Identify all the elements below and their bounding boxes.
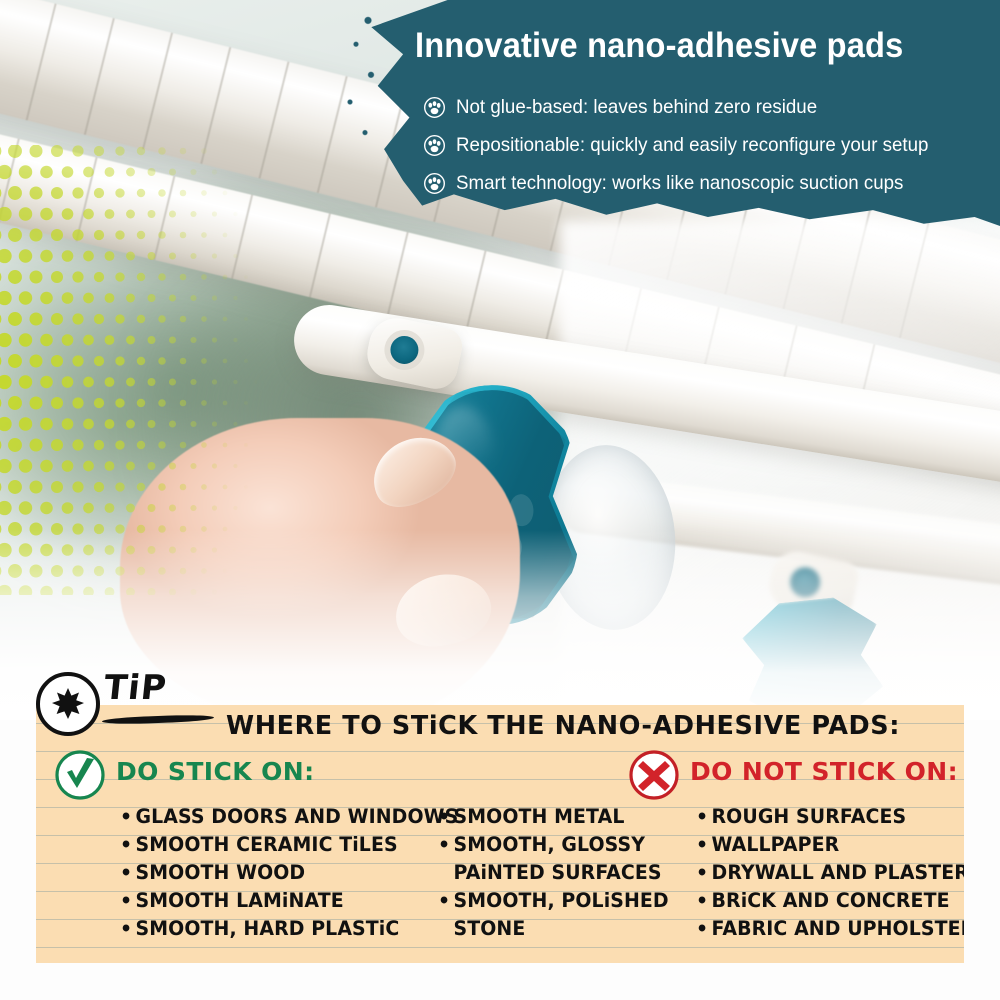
red-x-circle-icon — [628, 749, 680, 801]
page-title: Innovative nano-adhesive pads — [415, 26, 940, 66]
card-title: WHERE TO STiCK THE NANO-ADHESIVE PADS: — [226, 711, 900, 741]
infographic-root: Innovative nano-adhesive pads Not glue-b… — [0, 0, 1000, 1000]
header-band: Innovative nano-adhesive pads Not glue-b… — [0, 0, 1000, 232]
header-feature-list: Not glue-based: leaves behind zero resid… — [424, 88, 994, 202]
list-item: SMOOTH, GLOSSY — [438, 831, 642, 859]
paw-print-icon — [424, 97, 445, 118]
list-item: DRYWALL AND PLASTER — [696, 859, 950, 887]
paw-print-icon — [424, 173, 445, 194]
paw-print-icon — [424, 135, 445, 156]
tip-badge-circle — [36, 672, 100, 736]
list-item: SMOOTH METAL — [438, 803, 642, 831]
list-item: SMOOTH, POLiSHED — [438, 887, 642, 915]
list-item-continuation: STONE — [438, 915, 642, 943]
tip-badge: TiP — [36, 670, 226, 732]
do-stick-header: DO STICK ON: — [54, 753, 644, 801]
green-check-circle-icon — [54, 749, 106, 801]
list-item: ROUGH SURFACES — [696, 803, 950, 831]
list-item: WALLPAPER — [696, 831, 950, 859]
list-item: GLASS DOORS AND WINDOWS — [120, 803, 411, 831]
tip-underline — [102, 714, 214, 725]
header-feature-item: Smart technology: works like nanoscopic … — [424, 164, 994, 202]
do-stick-list-2: SMOOTH METAL SMOOTH, GLOSSY PAiNTED SURF… — [438, 803, 648, 943]
do-not-stick-list: ROUGH SURFACES WALLPAPER DRYWALL AND PLA… — [696, 803, 958, 943]
do-stick-section: DO STICK ON: GLASS DOORS AND WINDOWS SMO… — [54, 753, 644, 943]
list-item: SMOOTH WOOD — [120, 859, 411, 887]
list-item: SMOOTH, HARD PLASTiC — [120, 915, 411, 943]
do-not-stick-header: DO NOT STICK ON: — [628, 753, 958, 801]
list-item: SMOOTH LAMiNATE — [120, 887, 411, 915]
header-feature-text: Not glue-based: leaves behind zero resid… — [456, 96, 817, 119]
tip-card: WHERE TO STiCK THE NANO-ADHESIVE PADS: D… — [36, 705, 964, 963]
header-feature-item: Not glue-based: leaves behind zero resid… — [424, 88, 994, 126]
do-not-stick-heading: DO NOT STICK ON: — [690, 757, 958, 786]
star-burst-icon — [51, 687, 85, 721]
do-stick-list-1: GLASS DOORS AND WINDOWS SMOOTH CERAMIC T… — [120, 803, 420, 943]
list-item-continuation: PAiNTED SURFACES — [438, 859, 642, 887]
list-item: BRiCK AND CONCRETE — [696, 887, 950, 915]
list-item: FABRIC AND UPHOLSTERY — [696, 915, 950, 943]
header-feature-text: Smart technology: works like nanoscopic … — [456, 172, 903, 195]
header-feature-text: Repositionable: quickly and easily recon… — [456, 134, 928, 157]
header-band-brush-speckle — [320, 0, 380, 170]
do-stick-heading: DO STICK ON: — [116, 757, 314, 786]
do-stick-lists: GLASS DOORS AND WINDOWS SMOOTH CERAMIC T… — [54, 803, 644, 943]
do-not-stick-section: DO NOT STICK ON: ROUGH SURFACES WALLPAPE… — [628, 753, 958, 943]
header-feature-item: Repositionable: quickly and easily recon… — [424, 126, 994, 164]
tip-badge-label: TiP — [102, 668, 169, 708]
list-item: SMOOTH CERAMIC TiLES — [120, 831, 411, 859]
hanger-hole-primary — [388, 333, 421, 366]
